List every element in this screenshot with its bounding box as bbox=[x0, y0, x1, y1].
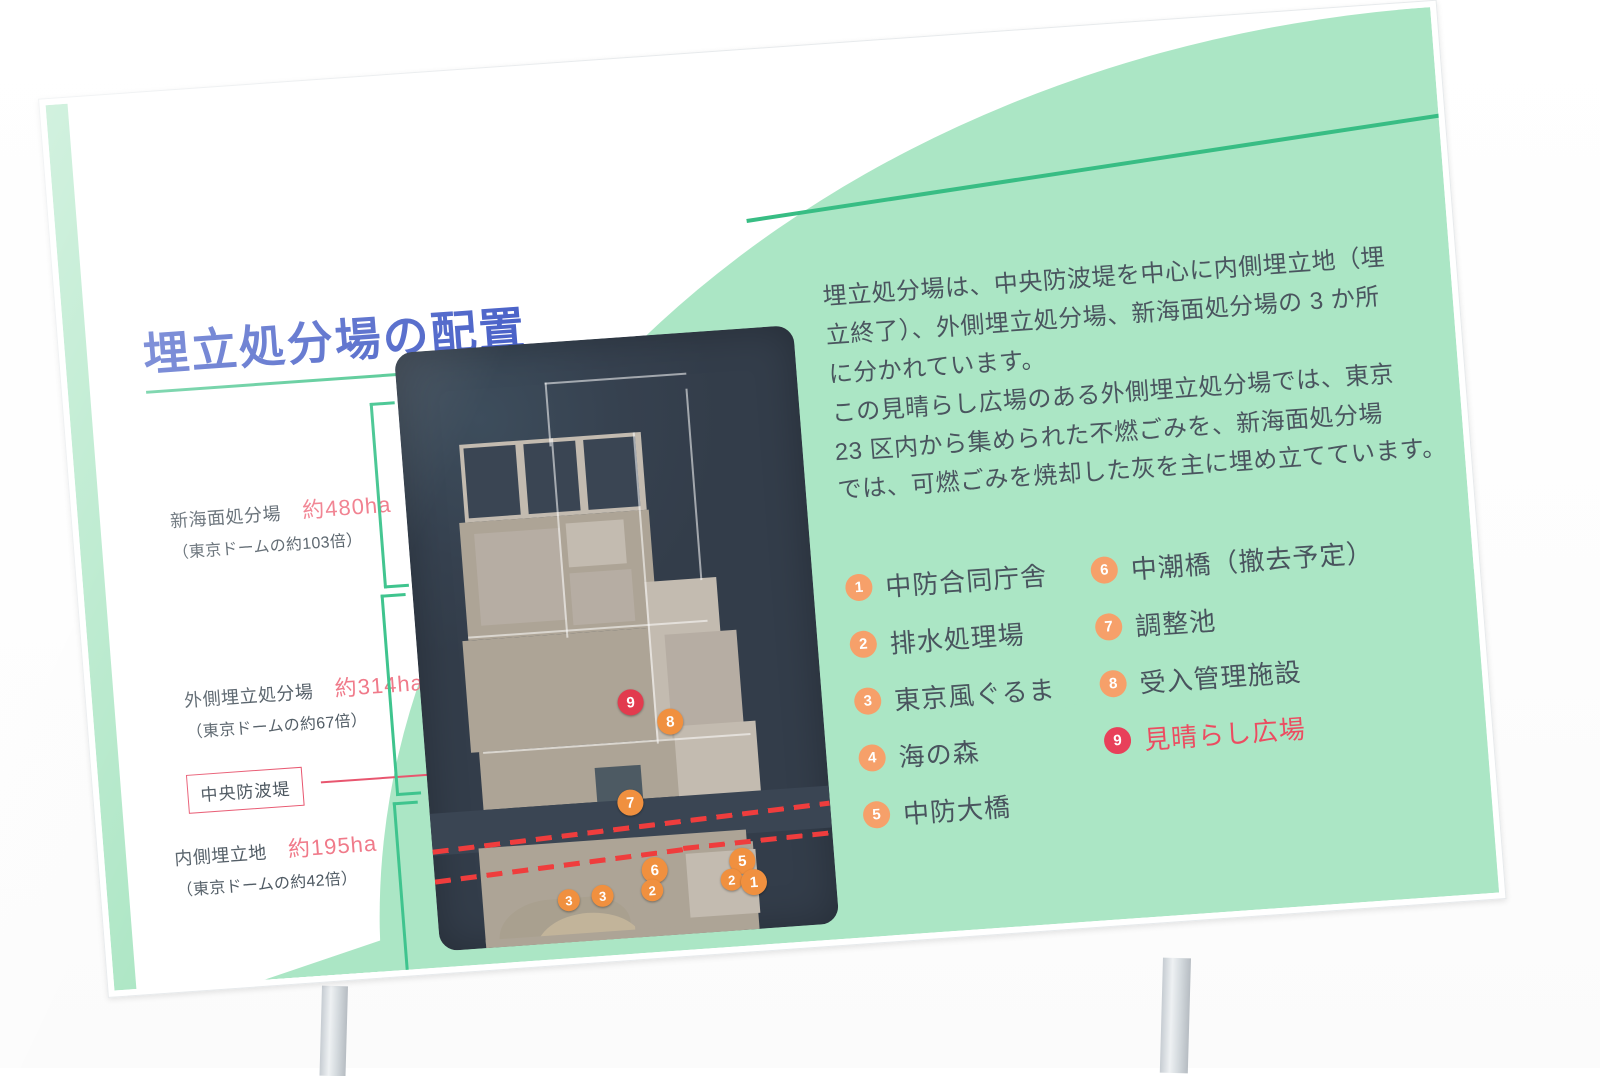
stat-shinkaimen-shobunjo: 新海面処分場 約480ha （東京ドームの約103倍） bbox=[169, 487, 395, 563]
legend-column-right: 6 中潮橋（撤去予定） 7 調整池 8 受入管理施設 9 見晴らし広場 bbox=[1089, 533, 1392, 817]
legend-item-8[interactable]: 8 受入管理施設 bbox=[1098, 646, 1383, 703]
stat-name: 外側埋立処分場 bbox=[183, 682, 314, 711]
photo-scene: 埋立処分場の配置 新海面処分場 約480ha （東京ドームの約103倍） 外側埋… bbox=[0, 0, 1600, 1068]
legend-item-7[interactable]: 7 調整池 bbox=[1094, 589, 1379, 646]
legend-item-label: 東京風ぐるま bbox=[893, 669, 1057, 717]
legend-item-label: 調整池 bbox=[1134, 601, 1218, 644]
legend-number-badge: 6 bbox=[1090, 556, 1119, 585]
information-sign-board: 埋立処分場の配置 新海面処分場 約480ha （東京ドームの約103倍） 外側埋… bbox=[38, 0, 1507, 998]
legend-number-badge: 7 bbox=[1094, 612, 1123, 641]
aerial-photograph: 98765332214 bbox=[394, 325, 840, 951]
legend-item-3[interactable]: 3 東京風ぐるま bbox=[853, 669, 1057, 720]
legend-item-label: 排水処理場 bbox=[888, 614, 1026, 660]
legend-item-label: 受入管理施設 bbox=[1138, 652, 1302, 700]
legend-item-2[interactable]: 2 排水処理場 bbox=[848, 613, 1052, 664]
stat-uchigawa-umetatechi: 内側埋立地 約195ha （東京ドームの約42倍） bbox=[173, 826, 380, 901]
legend-number-badge: 3 bbox=[853, 687, 882, 716]
sign-support-pole-left bbox=[319, 986, 348, 1076]
sign-support-pole-right bbox=[1160, 958, 1191, 1074]
legend-number-badge: 2 bbox=[849, 630, 878, 659]
legend-number-badge: 5 bbox=[862, 800, 891, 829]
legend-number-badge: 9 bbox=[1103, 726, 1132, 755]
chuobo-callout-label: 中央防波堤 bbox=[186, 767, 305, 814]
stat-name: 内側埋立地 bbox=[174, 842, 268, 868]
stat-area: 約195ha bbox=[287, 831, 378, 862]
legend-number-badge: 4 bbox=[858, 744, 887, 773]
legend-item-label: 海の森 bbox=[897, 732, 981, 775]
legend-number-badge: 8 bbox=[1099, 669, 1128, 698]
legend-item-label: 見晴らし広場 bbox=[1143, 709, 1307, 757]
legend-item-9[interactable]: 9 見晴らし広場 bbox=[1103, 703, 1388, 760]
legend-number-badge: 1 bbox=[844, 573, 873, 602]
sign-panel: 埋立処分場の配置 新海面処分場 約480ha （東京ドームの約103倍） 外側埋… bbox=[46, 7, 1499, 990]
legend: 1 中防合同庁舎 2 排水処理場 3 東京風ぐるま 4 海の森 bbox=[844, 527, 1473, 834]
legend-column-left: 1 中防合同庁舎 2 排水処理場 3 東京風ぐるま 4 海の森 bbox=[844, 556, 1066, 834]
legend-item-4[interactable]: 4 海の森 bbox=[857, 726, 1061, 777]
legend-item-label: 中防大橋 bbox=[902, 787, 1013, 832]
stat-name: 新海面処分場 bbox=[169, 504, 281, 532]
description-paragraph: 埋立処分場は、中央防波堤を中心に内側埋立地（埋 立終了）、外側埋立処分場、新海面… bbox=[821, 236, 1438, 511]
